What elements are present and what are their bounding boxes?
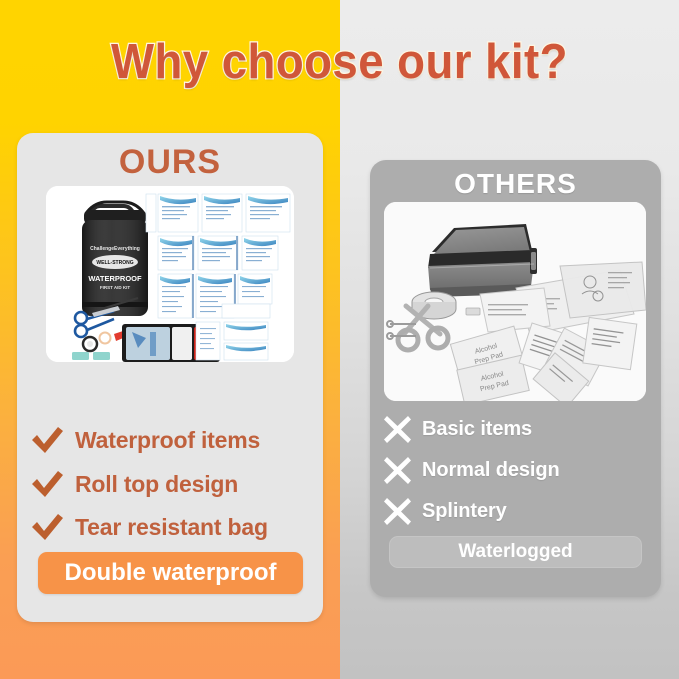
others-product-image: Alcohol Prep Pad Alcohol Prep Pad [384,202,646,401]
svg-text:ChallengeEverything: ChallengeEverything [90,246,140,252]
comparison-infographic: Why choose our kit? OURS WELL-STRONG Cha… [0,0,679,679]
others-kit-illustration: Alcohol Prep Pad Alcohol Prep Pad [384,202,646,401]
others-feature-label: Basic items [422,418,532,441]
check-mark-icon [31,471,64,498]
ours-feature-label: Tear resistant bag [75,514,268,541]
x-mark-icon [384,498,411,525]
others-heading: OTHERS [370,168,661,200]
others-feature-row: Splintery [384,498,507,525]
ours-feature-label: Waterproof items [75,427,260,454]
others-feature-label: Splintery [422,500,507,523]
ours-feature-label: Roll top design [75,471,238,498]
check-mark-icon [31,427,64,454]
x-mark-icon [384,416,411,443]
others-card: OTHERS [370,160,661,597]
others-feature-row: Basic items [384,416,532,443]
x-mark-icon [384,457,411,484]
svg-text:WELL-STRONG: WELL-STRONG [96,260,133,266]
ours-feature-row: Roll top design [31,471,238,498]
svg-text:FIRST AID KIT: FIRST AID KIT [100,285,131,290]
ours-feature-row: Tear resistant bag [31,514,268,541]
others-feature-row: Normal design [384,457,560,484]
svg-text:WATERPROOF: WATERPROOF [88,274,142,283]
waterlogged-button[interactable]: Waterlogged [389,536,642,568]
ours-card: OURS WELL-STRONG ChallengeEverything WAT… [17,133,323,622]
page-title: Why choose our kit? [24,34,655,90]
double-waterproof-button[interactable]: Double waterproof [38,552,303,594]
others-feature-label: Normal design [422,459,560,482]
ours-feature-row: Waterproof items [31,427,260,454]
ours-kit-illustration: WELL-STRONG ChallengeEverything WATERPRO… [46,186,294,362]
ours-product-image: WELL-STRONG ChallengeEverything WATERPRO… [46,186,294,362]
check-mark-icon [31,514,64,541]
ours-heading: OURS [17,143,323,182]
